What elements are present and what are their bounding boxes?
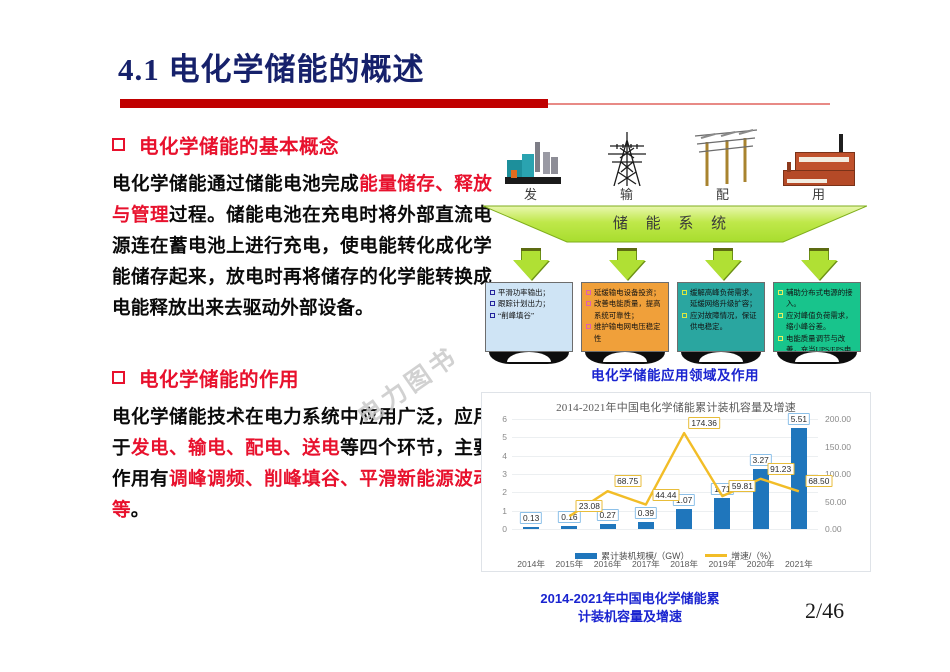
chart-line-label: 68.50 [805,475,832,487]
list-item: 平滑功率输出； [490,287,568,298]
storage-application-diagram: 发 输 [481,126,869,364]
stage-distribution: 配 [677,126,769,188]
diagram-caption: 电化学储能应用领域及作用 [481,364,869,384]
square-bullet-icon [586,324,591,329]
chart-title: 2014-2021年中国电化学储能累计装机容量及增速 [482,399,870,415]
list-item: 跟踪计划出力； [490,298,568,309]
square-bullet-icon [682,313,687,318]
stage-power-plant: 发 [485,126,577,188]
paragraph-run: 电化学储能通过储能电池完成 [112,173,359,194]
chart-y-tick: 6 [502,414,507,424]
square-bullet-icon [778,336,783,341]
section-heading-label: 电化学储能的作用 [139,363,299,392]
chart-line-label: 59.81 [729,480,756,492]
chart-y2-tick: 0.00 [825,524,842,534]
square-bullet-icon [778,290,783,295]
benefit-text: 缓解高峰负荷需求，延缓网络升级扩容； [690,287,760,310]
square-bullet-icon [112,138,125,151]
chart-container: 2014-2021年中国电化学储能累计装机容量及增速 01234560.0050… [481,392,871,572]
stage-consumption: 用 [773,126,865,188]
chart-y-tick: 4 [502,451,507,461]
square-bullet-icon [778,313,783,318]
arrow-row [481,248,869,280]
chart-y-tick: 1 [502,506,507,516]
chart-legend: 累计装机规模/（GW）增速/（%） [482,549,870,562]
section-heading-role: 电化学储能的作用 [112,363,492,392]
chart-caption-line: 计装机容量及增速 [500,608,760,626]
legend-entry[interactable]: 累计装机规模/（GW） [575,549,689,562]
stage-transmission: 输 [581,126,673,188]
benefit-text: 维护输电网电压稳定性 [594,321,664,344]
storage-system-label: 储 能 系 统 [481,212,865,233]
list-item: 辅助分布式电源的接入。 [778,287,856,310]
benefit-text: 应对故障情况，保证供电稳定。 [690,310,760,333]
title-underline-thick [120,99,548,108]
benefit-text: 电能质量调节与改善，充当UPS/EPS电源。 [786,333,856,352]
list-item: 电能质量调节与改善，充当UPS/EPS电源。 [778,333,856,352]
chart-gridline [512,529,818,530]
section-heading-concept: 电化学储能的基本概念 [112,130,492,159]
stage-label: 配 [677,184,769,203]
benefit-text: 延缓输电设备投资； [594,287,661,298]
legend-entry[interactable]: 增速/（%） [705,549,776,562]
benefit-box: 辅助分布式电源的接入。 应对峰值负荷需求，缩小峰谷差。 电能质量调节与改善，充当… [773,282,861,352]
chart-line-label: 174.36 [688,417,720,429]
legend-label: 增速/（%） [731,549,776,562]
legend-swatch [705,554,727,557]
down-arrow-icon [609,248,645,280]
chart-line-label: 23.08 [576,500,603,512]
factory-icon [783,134,855,186]
page-number: 2/46 [805,598,844,624]
down-arrow-icon [801,248,837,280]
chart-line-label: 91.23 [767,463,794,475]
list-item: 应对峰值负荷需求，缩小峰谷差。 [778,310,856,333]
section-paragraph-role: 电化学储能技术在电力系统中应用广泛，应用于发电、输电、配电、送电等四个环节，主要… [112,401,492,525]
section-spacer [112,323,492,363]
paragraph-run: 过程。储能电池在充电时将外部直流电源连在蓄电池上进行充电，使电能转化成化学能储存… [112,204,492,318]
power-plant-icon [505,142,567,184]
benefit-text: 应对峰值负荷需求，缩小峰谷差。 [786,310,856,333]
list-item: 改善电能质量，提高系统可靠性； [586,298,664,321]
chart-y2-tick: 150.00 [825,442,851,452]
chart-caption: 2014-2021年中国电化学储能累计装机容量及增速 [500,590,760,626]
chart-line-label: 68.75 [614,475,641,487]
chart-line-label: 44.44 [652,489,679,501]
down-arrow-icon [705,248,741,280]
section-heading-label: 电化学储能的基本概念 [139,130,339,159]
stage-icon-row: 发 输 [481,126,869,188]
stage-label: 用 [773,184,865,203]
square-bullet-icon [586,290,591,295]
stage-label: 发 [485,184,577,203]
chart-plot-area: 01234560.0050.00100.00150.00200.002014年0… [512,419,818,529]
list-item: 缓解高峰负荷需求，延缓网络升级扩容； [682,287,760,310]
square-bullet-icon [682,290,687,295]
legend-swatch [575,553,597,559]
benefit-box: 缓解高峰负荷需求，延缓网络升级扩容； 应对故障情况，保证供电稳定。 [677,282,765,352]
list-item: 维护输电网电压稳定性 [586,321,664,344]
legend-label: 累计装机规模/（GW） [601,549,689,562]
slide-canvas: 4.1 电化学储能的概述 电化学储能的基本概念 电化学储能通过储能电池完成能量储… [0,0,950,672]
down-arrow-icon [513,248,549,280]
chart-y2-tick: 50.00 [825,497,846,507]
transmission-tower-icon [604,132,650,186]
section-paragraph-concept: 电化学储能通过储能电池完成能量储存、释放与管理过程。储能电池在充电时将外部直流电… [112,168,492,323]
chart-y-tick: 0 [502,524,507,534]
content-column: 电化学储能的基本概念 电化学储能通过储能电池完成能量储存、释放与管理过程。储能电… [112,130,492,525]
distribution-pole-icon [687,128,761,186]
benefit-text: 跟踪计划出力； [498,298,550,309]
stage-label: 输 [581,184,673,203]
benefit-text: 辅助分布式电源的接入。 [786,287,856,310]
square-bullet-icon [490,313,495,318]
chart-y-tick: 2 [502,487,507,497]
square-bullet-icon [112,371,125,384]
paragraph-run-highlight: 调峰调频、削峰填谷、平滑新能源波动等 [112,468,492,520]
benefit-box: 平滑功率输出； 跟踪计划出力； “削峰填谷” [485,282,573,352]
chart-y-tick: 5 [502,432,507,442]
list-item: 延缓输电设备投资； [586,287,664,298]
square-bullet-icon [490,290,495,295]
benefit-text: “削峰填谷” [498,310,534,321]
paragraph-run: 。 [131,499,150,520]
square-bullet-icon [490,301,495,306]
list-item: 应对故障情况，保证供电稳定。 [682,310,760,333]
benefit-box-row: 平滑功率输出； 跟踪计划出力； “削峰填谷” 延缓输电设备投资； 改善电能质量，… [481,282,869,364]
chart-y2-tick: 200.00 [825,414,851,424]
list-item: “削峰填谷” [490,310,568,321]
benefit-text: 平滑功率输出； [498,287,550,298]
paragraph-run-highlight: 发电、输电、配电、送电 [131,437,340,458]
page-title: 4.1 电化学储能的概述 [118,44,425,89]
benefit-text: 改善电能质量，提高系统可靠性； [594,298,664,321]
chart-caption-line: 2014-2021年中国电化学储能累 [500,590,760,608]
benefit-box: 延缓输电设备投资； 改善电能质量，提高系统可靠性； 维护输电网电压稳定性 [581,282,669,352]
chart-y-tick: 3 [502,469,507,479]
square-bullet-icon [586,301,591,306]
